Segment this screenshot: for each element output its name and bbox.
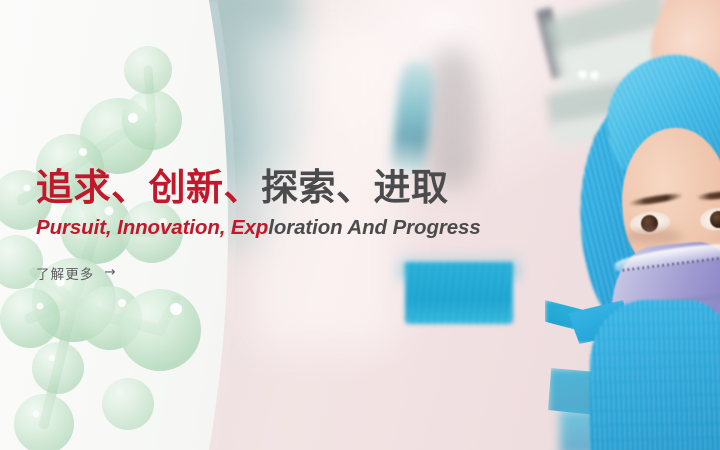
headline-red-segment: 追求、创新、 [36, 166, 261, 209]
hero-banner: 追求、创新、探索、进取 Pursuit, Innovation, Explora… [0, 0, 720, 450]
iris-right [710, 211, 720, 228]
subtitle-red-segment: Pursuit, Innovation, Exp [36, 216, 268, 239]
arrow-right-icon: → [104, 266, 116, 280]
page-title: 追求、创新、探索、进取 [36, 168, 576, 207]
learn-more-link[interactable]: 了解更多→ [36, 263, 117, 283]
subtitle-grey-segment: loration And Progress [268, 216, 480, 239]
lab-hood-shoulder [590, 300, 720, 450]
equipment-light-2 [590, 71, 599, 80]
hero-copy: 追求、创新、探索、进取 Pursuit, Innovation, Explora… [36, 168, 576, 284]
learn-more-label: 了解更多 [36, 263, 94, 283]
page-subtitle: Pursuit, Innovation, Exploration And Pro… [36, 217, 576, 240]
headline-grey-segment: 探索、进取 [261, 166, 449, 209]
equipment-light-1 [578, 70, 587, 79]
lab-technician-photo [600, 0, 720, 450]
under-eye-shadow [626, 228, 682, 244]
